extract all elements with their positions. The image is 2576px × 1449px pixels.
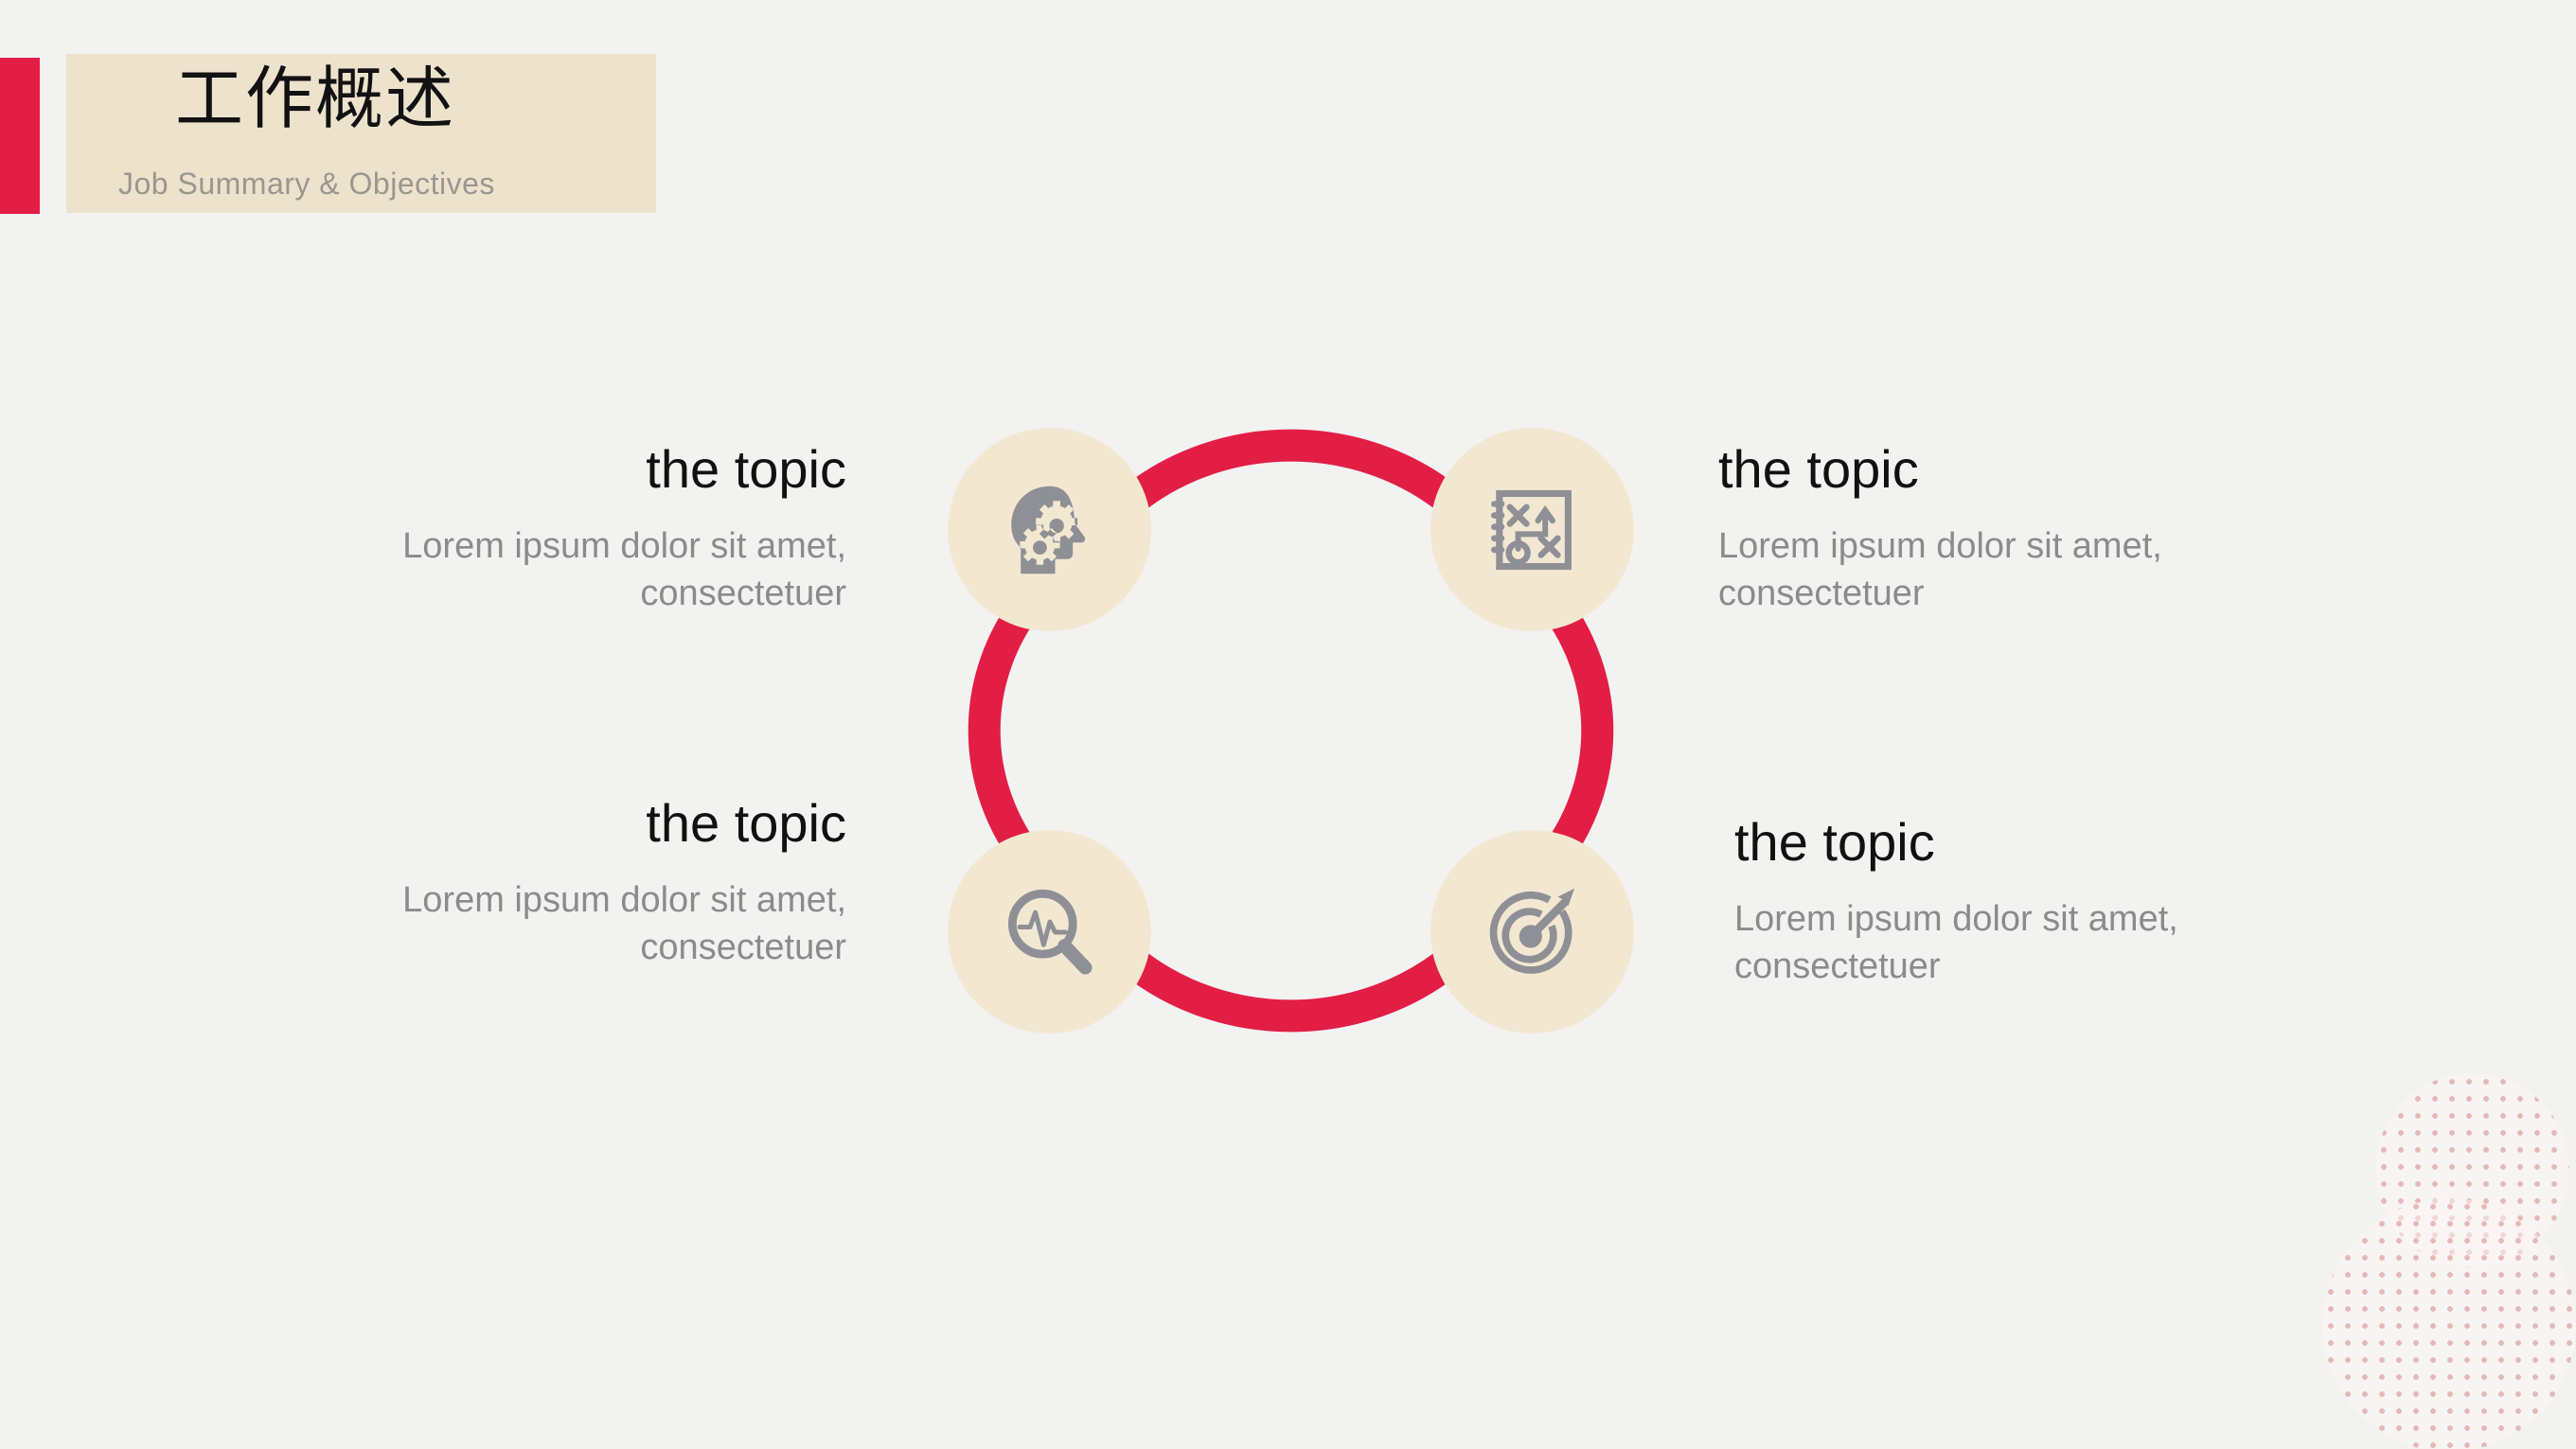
topic-title: the topic <box>1734 815 2246 871</box>
topic-block-top-right: the topic Lorem ipsum dolor sit amet, co… <box>1718 442 2230 618</box>
topic-body: Lorem ipsum dolor sit amet, consectetuer <box>335 522 846 618</box>
strategy-playbook-icon <box>1481 478 1585 582</box>
slide-canvas: 工作概述 Job Summary & Objectives <box>0 0 2576 1449</box>
topic-title: the topic <box>335 442 846 498</box>
target-arrow-icon <box>1481 880 1585 984</box>
head-gears-icon <box>998 478 1102 582</box>
page-title: 工作概述 <box>175 64 455 133</box>
header-accent-bar <box>0 58 40 214</box>
topic-block-bottom-left: the topic Lorem ipsum dolor sit amet, co… <box>335 796 846 972</box>
topic-body: Lorem ipsum dolor sit amet, consectetuer <box>1718 522 2230 618</box>
node-bottom-right[interactable] <box>1430 830 1634 1034</box>
topic-body: Lorem ipsum dolor sit amet, consectetuer <box>335 876 846 972</box>
topic-block-bottom-right: the topic Lorem ipsum dolor sit amet, co… <box>1734 815 2246 991</box>
node-top-left[interactable] <box>948 428 1151 631</box>
page-subtitle: Job Summary & Objectives <box>118 168 495 199</box>
topic-title: the topic <box>1718 442 2230 498</box>
cycle-diagram <box>948 428 1634 1034</box>
topic-body: Lorem ipsum dolor sit amet, consectetuer <box>1734 895 2246 991</box>
topic-block-top-left: the topic Lorem ipsum dolor sit amet, co… <box>335 442 846 618</box>
magnifier-pulse-icon <box>998 880 1102 984</box>
topic-title: the topic <box>335 796 846 852</box>
node-top-right[interactable] <box>1430 428 1634 631</box>
node-bottom-left[interactable] <box>948 830 1151 1034</box>
decorative-dotted-circle-large <box>2322 1198 2576 1449</box>
